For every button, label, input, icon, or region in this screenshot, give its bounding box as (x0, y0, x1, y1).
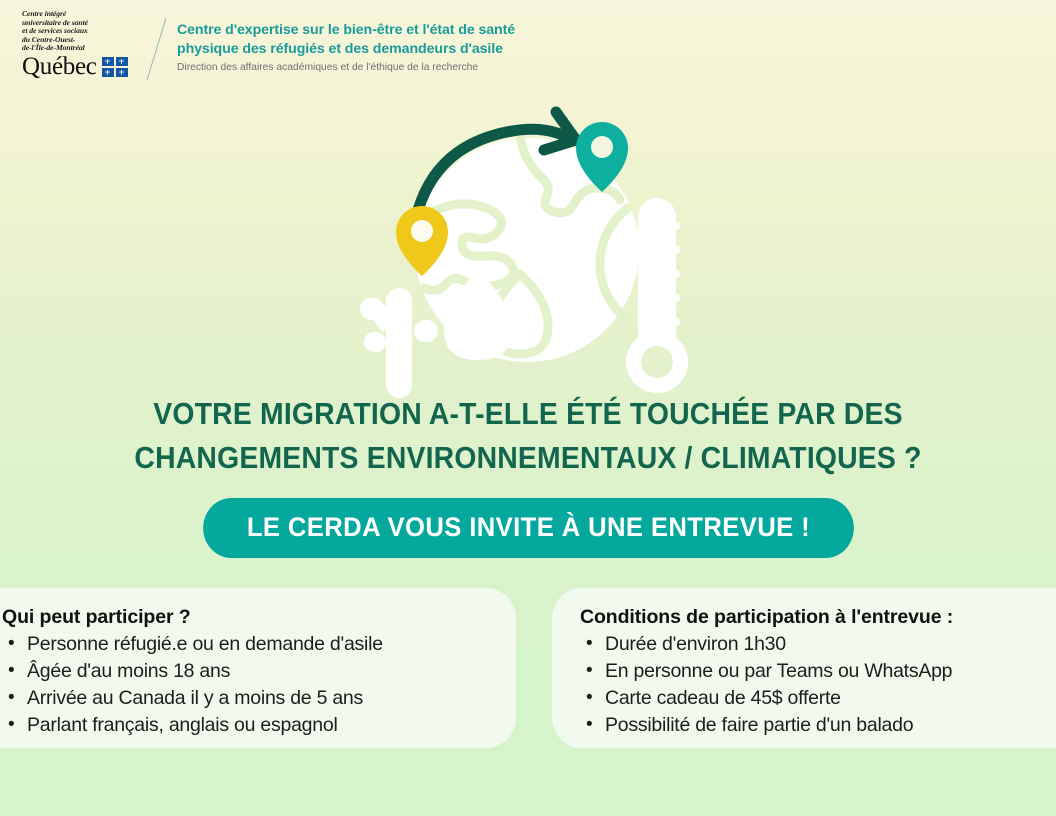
list-item: Personne réfugié.e ou en demande d'asile (2, 631, 494, 658)
fleur-de-lis-icon (102, 68, 114, 77)
quebec-flag-icon (102, 57, 128, 77)
thermometer-bulb-hole (641, 346, 673, 378)
page-header: Centre intégré universitaire de santé et… (0, 0, 1056, 90)
conditions-list: Durée d'environ 1h30 En personne ou par … (580, 631, 1056, 739)
list-item: Arrivée au Canada il y a moins de 5 ans (2, 685, 494, 712)
list-item: Durée d'environ 1h30 (580, 631, 1056, 658)
fleur-de-lis-icon (116, 68, 128, 77)
list-item: En personne ou par Teams ou WhatsApp (580, 658, 1056, 685)
cactus-icon (360, 288, 438, 398)
logo-agency-lines: Centre intégré universitaire de santé et… (22, 10, 140, 53)
eligibility-list: Personne réfugié.e ou en demande d'asile… (2, 631, 494, 739)
info-cards: Qui peut participer ? Personne réfugié.e… (0, 588, 1056, 756)
headline-line-1: VOTRE MIGRATION A-T-ELLE ÉTÉ TOUCHÉE PAR… (37, 392, 1019, 436)
logo-wordmark-row: Québec (22, 54, 140, 79)
globe-migration-illustration (370, 92, 700, 392)
header-divider (147, 18, 167, 80)
list-item: Âgée d'au moins 18 ans (2, 658, 494, 685)
logo-wordmark: Québec (22, 54, 97, 79)
conditions-card-title: Conditions de participation à l'entrevue… (580, 606, 1056, 629)
list-item: Possibilité de faire partie d'un balado (580, 712, 1056, 739)
list-item: Parlant français, anglais ou espagnol (2, 712, 494, 739)
eligibility-card: Qui peut participer ? Personne réfugié.e… (0, 588, 516, 748)
logo-line-5: de-l'Île-de-Montréal (22, 44, 140, 53)
conditions-card: Conditions de participation à l'entrevue… (552, 588, 1056, 748)
eligibility-card-title: Qui peut participer ? (2, 606, 494, 629)
organization-title: Centre d'expertise sur le bien-être et l… (177, 21, 517, 58)
header-text-block: Centre d'expertise sur le bien-être et l… (177, 10, 517, 75)
list-item: Carte cadeau de 45$ offerte (580, 685, 1056, 712)
cta-container: LE CERDA VOUS INVITE À UNE ENTREVUE ! (0, 498, 1056, 558)
page-title: VOTRE MIGRATION A-T-ELLE ÉTÉ TOUCHÉE PAR… (37, 392, 1019, 480)
quebec-government-logo: Centre intégré universitaire de santé et… (22, 10, 140, 79)
organization-subtitle: Direction des affaires académiques et de… (177, 61, 517, 75)
headline-line-2: CHANGEMENTS ENVIRONNEMENTAUX / CLIMATIQU… (37, 436, 1019, 480)
fleur-de-lis-icon (102, 57, 114, 66)
fleur-de-lis-icon (116, 57, 128, 66)
invite-interview-button[interactable]: LE CERDA VOUS INVITE À UNE ENTREVUE ! (203, 498, 854, 558)
